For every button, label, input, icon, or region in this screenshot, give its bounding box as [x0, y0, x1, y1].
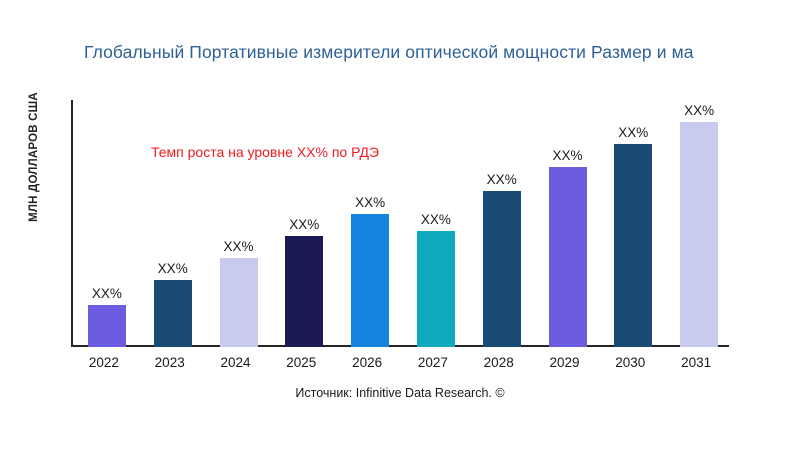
x-tick-2022: 2022 [71, 355, 137, 370]
source-note: Источник: Infinitive Data Research. © [0, 386, 800, 400]
bar-value-label-2023: XX% [158, 261, 188, 276]
x-tick-2028: 2028 [466, 355, 532, 370]
bar-rect-2029[interactable] [549, 167, 587, 347]
bar-value-label-2028: XX% [487, 172, 517, 187]
growth-rate-annotation: Темп роста на уровне XX% по РДЭ [151, 144, 379, 160]
chart-title: Глобальный Портативные измерители оптиче… [84, 38, 800, 66]
bar-rect-2022[interactable] [88, 305, 126, 347]
bar-value-label-2022: XX% [92, 286, 122, 301]
bar-rect-2025[interactable] [285, 236, 323, 347]
chart-container: Глобальный Портативные измерители оптиче… [0, 0, 800, 450]
bar-2023[interactable]: XX% [154, 100, 192, 347]
bar-2030[interactable]: XX% [614, 100, 652, 347]
x-tick-2029: 2029 [532, 355, 598, 370]
x-tick-2025: 2025 [268, 355, 334, 370]
bar-2031[interactable]: XX% [680, 100, 718, 347]
bar-rect-2031[interactable] [680, 122, 718, 347]
bar-2028[interactable]: XX% [483, 100, 521, 347]
bar-value-label-2029: XX% [552, 148, 582, 163]
x-tick-2026: 2026 [334, 355, 400, 370]
x-tick-2023: 2023 [137, 355, 203, 370]
bar-rect-2026[interactable] [351, 214, 389, 347]
bar-value-label-2024: XX% [223, 239, 253, 254]
bar-2029[interactable]: XX% [549, 100, 587, 347]
bar-value-label-2026: XX% [355, 195, 385, 210]
bar-2022[interactable]: XX% [88, 100, 126, 347]
x-tick-2027: 2027 [400, 355, 466, 370]
bar-rect-2028[interactable] [483, 191, 521, 347]
bar-2026[interactable]: XX% [351, 100, 389, 347]
x-axis-tick-labels: 2022202320242025202620272028202920302031 [71, 355, 800, 377]
bar-2025[interactable]: XX% [285, 100, 323, 347]
bar-value-label-2027: XX% [421, 212, 451, 227]
bar-rect-2027[interactable] [417, 231, 455, 347]
x-tick-2030: 2030 [597, 355, 663, 370]
bar-value-label-2030: XX% [618, 125, 648, 140]
bar-rect-2024[interactable] [220, 258, 258, 347]
bar-series: XX%XX%XX%XX%XX%XX%XX%XX%XX%XX% [71, 100, 800, 347]
bar-value-label-2031: XX% [684, 103, 714, 118]
bar-rect-2030[interactable] [614, 144, 652, 347]
bar-2027[interactable]: XX% [417, 100, 455, 347]
bar-value-label-2025: XX% [289, 217, 319, 232]
bar-rect-2023[interactable] [154, 280, 192, 347]
y-axis-label: МЛН ДОЛЛАРОВ США [28, 62, 40, 252]
x-tick-2024: 2024 [203, 355, 269, 370]
bar-2024[interactable]: XX% [220, 100, 258, 347]
x-tick-2031: 2031 [663, 355, 729, 370]
